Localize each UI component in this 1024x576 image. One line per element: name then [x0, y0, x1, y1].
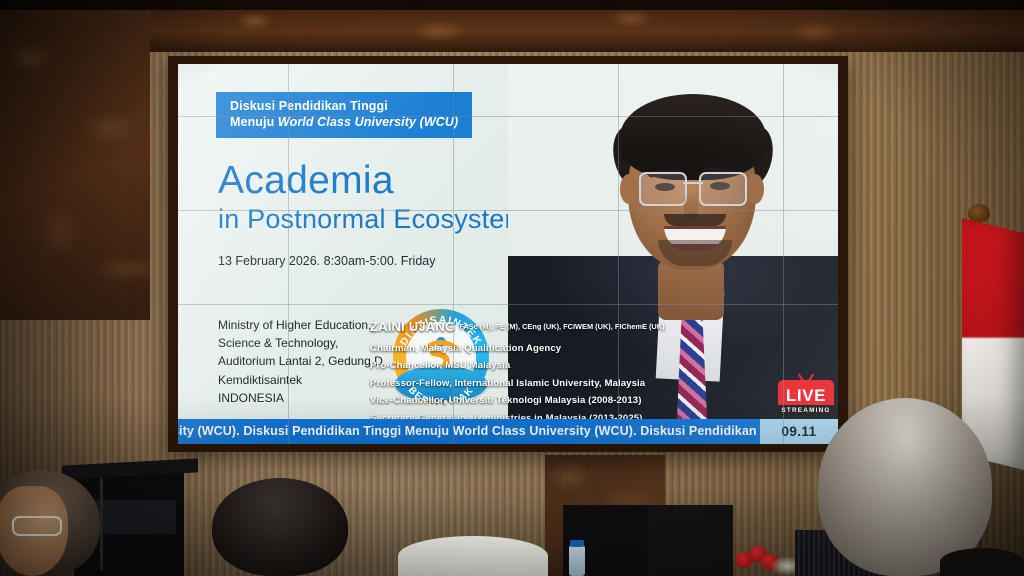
loudspeaker-box-right [647, 505, 733, 576]
slide-address-block: Ministry of Higher Education, Science & … [218, 316, 386, 407]
portrait-ear-right [746, 174, 764, 204]
video-wall-seam [178, 116, 838, 117]
portrait-ear-left [620, 174, 638, 204]
video-wall-seam [288, 64, 289, 444]
speaker-name: ZAINI UJANG [370, 319, 455, 334]
water-bottle-cap [570, 540, 584, 547]
video-wall-seam [178, 210, 838, 211]
speaker-postnominals: FASc (M), PE (M), CEng (UK), FCIWEM (UK)… [459, 322, 664, 331]
flag-finial [968, 204, 990, 222]
speaker-role: Professor-Fellow, International Islamic … [370, 378, 670, 389]
eyeglass-lens-left [639, 172, 687, 206]
address-line: Science & Technology, [218, 334, 386, 352]
slide-date-line: 13 February 2026. 8:30am-5:00. Friday [218, 254, 435, 268]
av-cable [100, 478, 103, 570]
video-wall-seam [178, 304, 838, 305]
video-wall-seam [783, 64, 784, 444]
video-wall-seam [618, 64, 619, 444]
slide-title-sub: in Postnormal Ecosystem [218, 204, 527, 235]
address-line: Ministry of Higher Education, [218, 316, 386, 334]
speaker-role: Chairman, Malaysia Qualification Agency [370, 343, 670, 354]
audience-head-far-right [940, 548, 1024, 576]
audience-head-center-left [212, 478, 348, 576]
audience-eyeglasses-icon [12, 516, 62, 536]
portrait-hair [620, 94, 766, 180]
eyeglass-lens-right [699, 172, 747, 206]
speaker-name-row: ZAINI UJANGFASc (M), PE (M), CEng (UK), … [370, 318, 670, 336]
portrait-moustache [664, 214, 726, 226]
video-wall-screen: Diskusi Pendidikan Tinggi Menuju World C… [178, 64, 838, 444]
room-scene: Diskusi Pendidikan Tinggi Menuju World C… [0, 0, 1024, 576]
address-line: Auditorium Lantai 2, Gedung D, [218, 352, 386, 370]
speaker-role: Pro-Chancellor, MSU Malaysia [370, 360, 670, 371]
video-wall-seam [453, 64, 454, 444]
water-bottle [569, 545, 585, 576]
slide-title-main: Academia [218, 159, 394, 203]
presentation-slide: Diskusi Pendidikan Tinggi Menuju World C… [178, 64, 838, 419]
badge-line-1: Diskusi Pendidikan Tinggi [230, 99, 458, 115]
audience-head-center [398, 536, 548, 576]
address-line: Kemdiktisaintek [218, 371, 386, 389]
